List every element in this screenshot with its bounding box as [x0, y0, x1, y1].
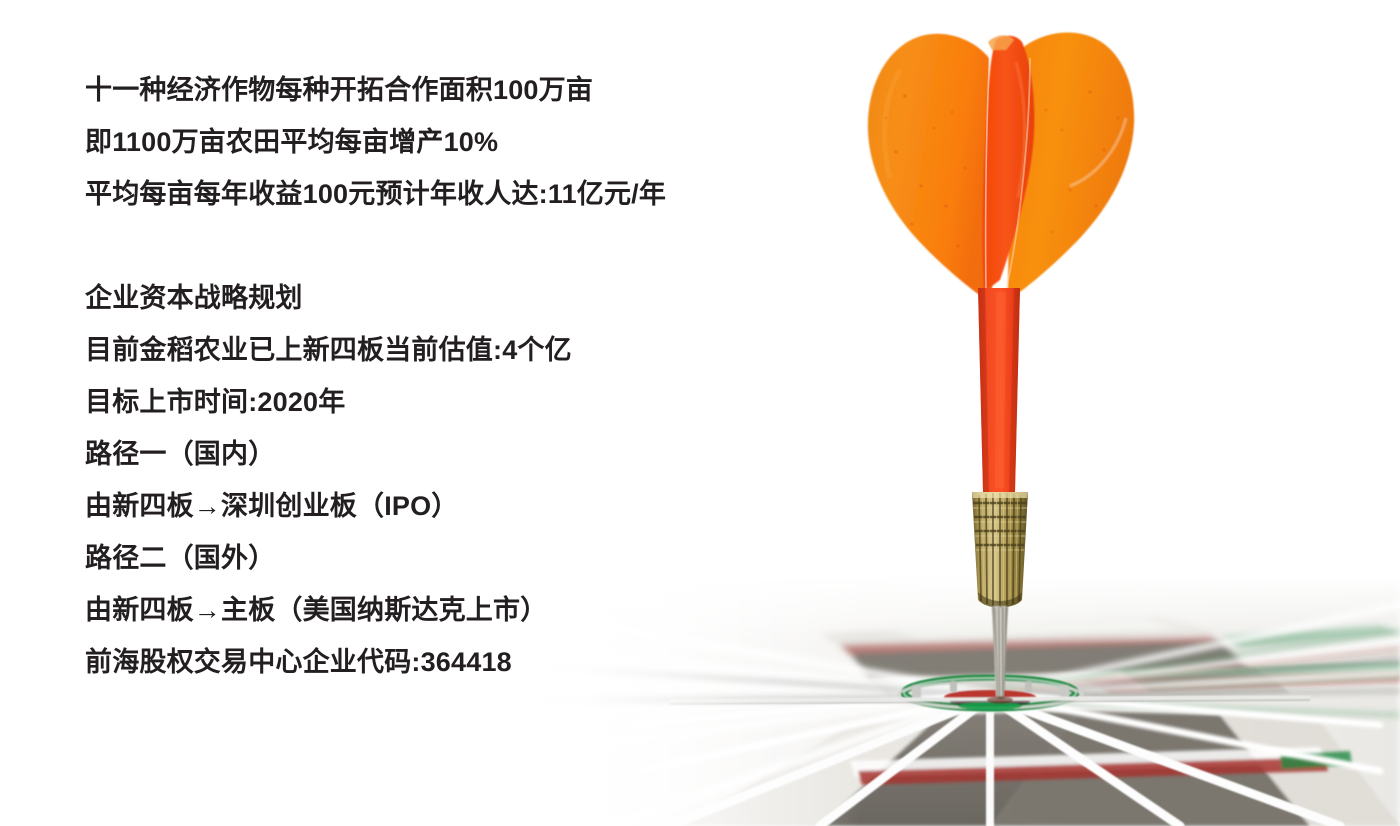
- text-line: 目前金稻农业已上新四板当前估值:4个亿: [85, 324, 865, 376]
- text-line: 目标上市时间:2020年: [85, 376, 865, 428]
- paragraph-one: 十一种经济作物每种开拓合作面积100万亩 即1100万亩农田平均每亩增产10% …: [85, 64, 865, 220]
- section-heading: 企业资本战略规划: [85, 272, 865, 324]
- text-line: 平均每亩每年收益100元预计年收人达:11亿元/年: [85, 168, 865, 220]
- flight-seam-right: [1006, 58, 1030, 290]
- text-line: 由新四板→深圳创业板（IPO）: [85, 480, 865, 532]
- text-line: 路径二（国外）: [85, 532, 865, 584]
- text-line: 由新四板→主板（美国纳斯达克上市）: [85, 584, 865, 636]
- text-line: 十一种经济作物每种开拓合作面积100万亩: [85, 64, 865, 116]
- dart-flight-center-vane: [982, 35, 1034, 292]
- paragraph-gap: [85, 220, 865, 272]
- slide-text: 十一种经济作物每种开拓合作面积100万亩 即1100万亩农田平均每亩增产10% …: [85, 64, 865, 688]
- text-line: 路径一（国内）: [85, 428, 865, 480]
- flight-seam-left: [986, 52, 990, 290]
- slide-canvas: 十一种经济作物每种开拓合作面积100万亩 即1100万亩农田平均每亩增产10% …: [0, 0, 1400, 826]
- dart-shaft: [978, 288, 1020, 492]
- dart-flight-right-lobe: [1008, 32, 1134, 292]
- text-line: 前海股权交易中心企业代码:364418: [85, 636, 865, 688]
- dart-flight-left-lobe: [868, 34, 993, 294]
- text-line: 即1100万亩农田平均每亩增产10%: [85, 116, 865, 168]
- paragraph-two: 企业资本战略规划 目前金稻农业已上新四板当前估值:4个亿 目标上市时间:2020…: [85, 272, 865, 688]
